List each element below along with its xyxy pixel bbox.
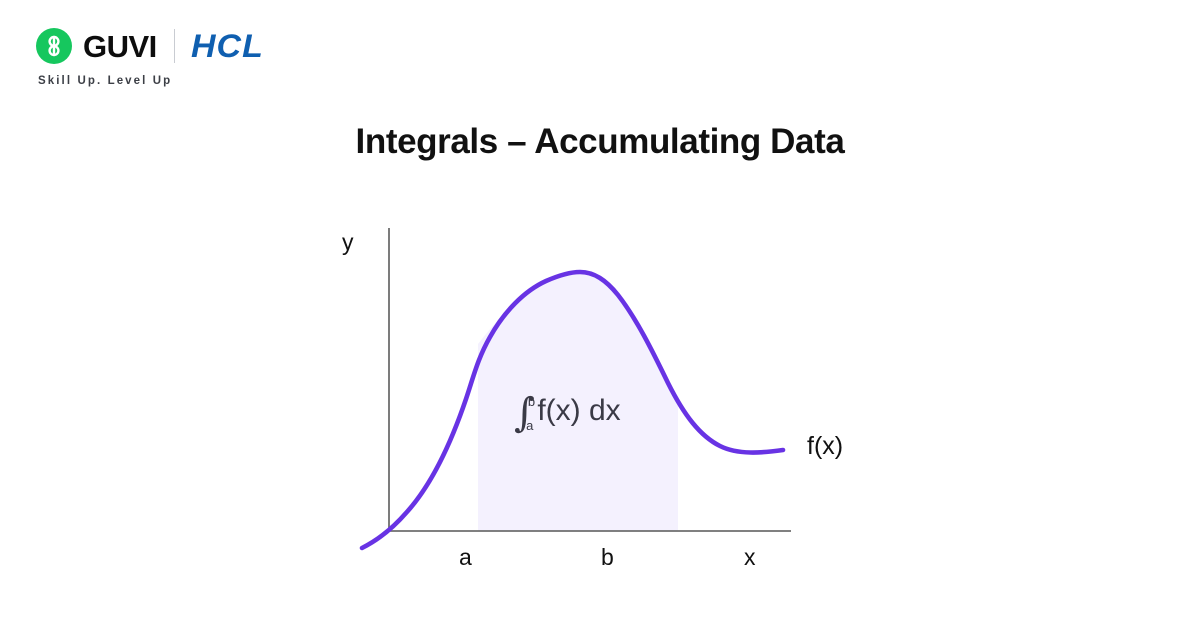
page-title: Integrals – Accumulating Data <box>0 122 1200 162</box>
integral-annotation: ∫baf(x) dx <box>514 393 621 433</box>
guvi-circle-g-icon <box>36 28 72 64</box>
guvi-wordmark: GUVI <box>83 31 157 62</box>
integral-body: f(x) dx <box>537 394 620 427</box>
integral-lower-limit: a <box>526 418 533 433</box>
y-axis-label: y <box>342 231 354 254</box>
brand-header: GUVI HCL Skill Up. Level Up <box>36 26 260 87</box>
curve-label-fx: f(x) <box>807 434 843 459</box>
integral-upper-limit: b <box>528 394 535 409</box>
brand-divider <box>174 29 176 63</box>
slide-canvas: GUVI HCL Skill Up. Level Up Integrals – … <box>0 0 1200 630</box>
x-axis-label: x <box>744 546 756 569</box>
integral-area-chart <box>0 0 1200 630</box>
x-tick-label-b: b <box>601 546 614 569</box>
brand-tagline: Skill Up. Level Up <box>38 75 172 87</box>
brand-logos-row: GUVI HCL <box>36 26 260 66</box>
x-tick-label-a: a <box>459 546 472 569</box>
hcl-wordmark: HCL <box>191 30 264 62</box>
